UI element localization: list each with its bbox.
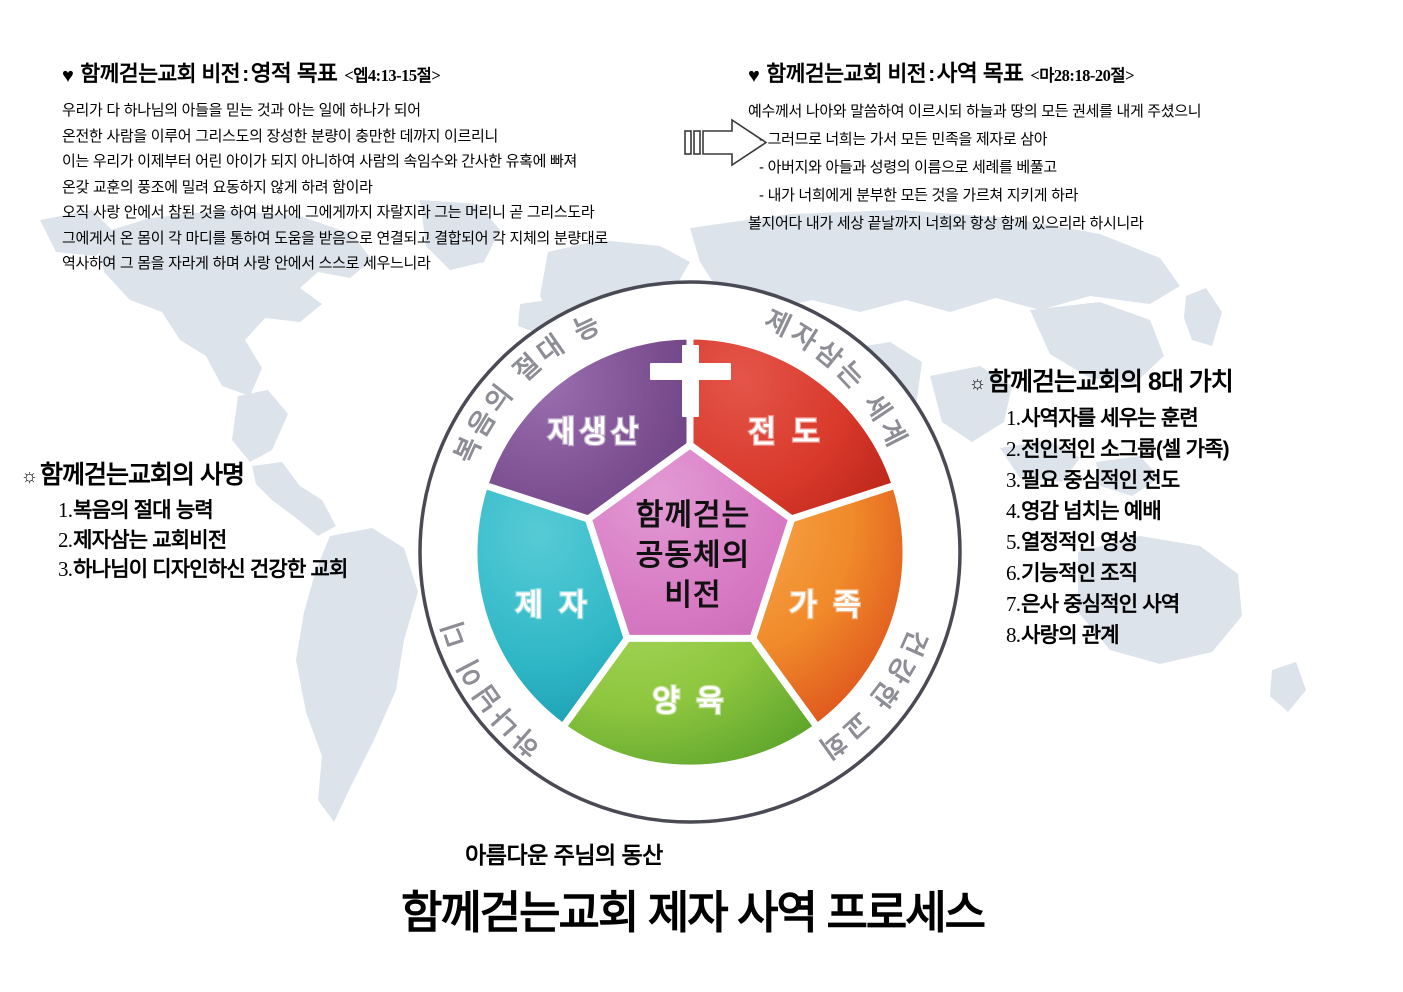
vision-ministry-line: 볼지어다 내가 세상 끝날까지 너희와 항상 함께 있으리라 하시니라 xyxy=(748,210,1358,238)
segment-label-nurture: 양 육 xyxy=(652,685,728,718)
item-label: 기능적인 조직 xyxy=(1021,562,1137,585)
slide-canvas: ♥함께걷는교회 비전:영적 목표<엡4:13-15절> 우리가 다 하나님의 아… xyxy=(0,0,1403,992)
list-item: 2.제자삼는 교회비전 xyxy=(18,526,418,556)
heart-icon: ♥ xyxy=(748,65,759,87)
vision-spiritual-line: 이는 우리가 이제부터 어린 아이가 되지 아니하여 사람의 속임수와 간사한 … xyxy=(62,149,702,175)
vision-spiritual-line: 우리가 다 하나님의 아들을 믿는 것과 아는 일에 하나가 되어 xyxy=(62,98,702,124)
center-line-3: 비전 xyxy=(664,579,721,612)
item-number: 3. xyxy=(1006,468,1020,492)
item-label: 사랑의 관계 xyxy=(1021,624,1119,647)
vision-spiritual-line: 온전한 사람을 이루어 그리스도의 장성한 분량이 충만한 데까지 이르리니 xyxy=(62,124,702,150)
item-label: 제자삼는 교회비전 xyxy=(73,529,226,552)
vision-ministry-title: 함께걷는교회 비전 xyxy=(766,62,926,86)
vision-spiritual-line: 역사하여 그 몸을 자라게 하며 사랑 안에서 스스로 세우느니라 xyxy=(62,251,702,277)
vision-ministry-body: 예수께서 나아와 말씀하여 이르시되 하늘과 땅의 모든 권세를 내게 주셨으니… xyxy=(748,98,1358,238)
heart-icon: ♥ xyxy=(62,65,73,87)
item-number: 7. xyxy=(1006,592,1020,616)
item-number: 2. xyxy=(1006,437,1020,461)
center-line-2: 공동체의 xyxy=(636,539,750,572)
item-label: 필요 중심적인 전도 xyxy=(1021,469,1179,492)
item-number: 8. xyxy=(1006,623,1020,647)
item-label: 하나님이 디자인하신 건강한 교회 xyxy=(73,558,347,581)
values-heading: ☼함께걷는교회의 8대 가치 xyxy=(966,362,1396,398)
item-label: 전인적인 소그룹(셀 가족) xyxy=(1021,438,1229,461)
vision-spiritual-reference: <엡4:13-15절> xyxy=(344,66,440,85)
sun-icon: ☼ xyxy=(18,466,40,488)
vision-ministry-reference: <마28:18-20절> xyxy=(1030,66,1134,85)
right-arrow-icon xyxy=(684,118,768,168)
list-item: 7.은사 중심적인 사역 xyxy=(966,589,1396,620)
vision-ministry-line: - 내가 너희에게 분부한 모든 것을 가르쳐 지키게 하라 xyxy=(748,182,1358,210)
vision-ministry-line: - 아버지와 아들과 성령의 이름으로 세례를 베풀고 xyxy=(748,154,1358,182)
vision-spiritual-heading: ♥함께걷는교회 비전:영적 목표<엡4:13-15절> xyxy=(62,56,702,88)
vision-ministry-heading: ♥함께걷는교회 비전:사역 목표<마28:18-20절> xyxy=(748,56,1358,88)
vision-ministry-line: 예수께서 나아와 말씀하여 이르시되 하늘과 땅의 모든 권세를 내게 주셨으니 xyxy=(748,98,1358,126)
list-item: 8.사랑의 관계 xyxy=(966,620,1396,651)
list-item: 2.전인적인 소그룹(셀 가족) xyxy=(966,434,1396,465)
values-heading-label: 함께걷는교회의 8대 가치 xyxy=(988,368,1233,396)
item-number: 4. xyxy=(1006,499,1020,523)
vision-ministry-block: ♥함께걷는교회 비전:사역 목표<마28:18-20절> 예수께서 나아와 말씀… xyxy=(748,56,1358,238)
sun-icon: ☼ xyxy=(966,373,988,395)
mission-items: 1.복음의 절대 능력 2.제자삼는 교회비전 3.하나님이 디자인하신 건강한… xyxy=(18,496,418,585)
footer-main-title: 함께걷는교회 제자 사역 프로세스 xyxy=(0,876,1403,941)
list-item: 1.사역자를 세우는 훈련 xyxy=(966,403,1396,434)
list-item: 1.복음의 절대 능력 xyxy=(18,496,418,526)
center-line-1: 함께걷는 xyxy=(636,499,750,532)
list-item: 5.열정적인 영성 xyxy=(966,527,1396,558)
item-number: 3. xyxy=(58,557,72,581)
vision-spiritual-line: 온갖 교훈의 풍조에 밀려 요동하지 않게 하려 함이라 xyxy=(62,175,702,201)
vision-spiritual-body: 우리가 다 하나님의 아들을 믿는 것과 아는 일에 하나가 되어 온전한 사람… xyxy=(62,98,702,277)
values-items: 1.사역자를 세우는 훈련 2.전인적인 소그룹(셀 가족) 3.필요 중심적인… xyxy=(966,403,1396,651)
vision-ministry-colon: : xyxy=(928,62,935,86)
vision-spiritual-line: 오직 사랑 안에서 참된 것을 하여 범사에 그에게까지 자랄지라 그는 머리니… xyxy=(62,200,702,226)
item-label: 영감 넘치는 예배 xyxy=(1021,500,1161,523)
list-item: 3.필요 중심적인 전도 xyxy=(966,465,1396,496)
vision-ministry-line: - 그러므로 너희는 가서 모든 민족을 제자로 삼아 xyxy=(748,126,1358,154)
vision-spiritual-block: ♥함께걷는교회 비전:영적 목표<엡4:13-15절> 우리가 다 하나님의 아… xyxy=(62,56,702,277)
item-number: 1. xyxy=(1006,406,1020,430)
item-label: 열정적인 영성 xyxy=(1021,531,1137,554)
values-list-block: ☼함께걷는교회의 8대 가치 1.사역자를 세우는 훈련 2.전인적인 소그룹(… xyxy=(966,362,1396,651)
segment-label-evangelism: 전 도 xyxy=(748,416,824,449)
mission-heading: ☼함께걷는교회의 사명 xyxy=(18,455,418,491)
item-label: 사역자를 세우는 훈련 xyxy=(1021,407,1198,430)
vision-spiritual-title: 함께걷는교회 비전 xyxy=(80,62,240,86)
mission-heading-label: 함께걷는교회의 사명 xyxy=(40,461,244,489)
segment-label-reproduction: 재생산 xyxy=(548,416,643,449)
list-item: 3.하나님이 디자인하신 건강한 교회 xyxy=(18,555,418,585)
item-number: 2. xyxy=(58,528,72,552)
item-label: 복음의 절대 능력 xyxy=(73,499,213,522)
segment-label-family: 가 족 xyxy=(789,589,865,622)
vision-spiritual-line: 그에게서 온 몸이 각 마디를 통하여 도움을 받음으로 연결되고 결합되어 각… xyxy=(62,226,702,252)
vision-wheel-diagram: 제자삼는 세계비젼 건강한 교회 하나님이 디자인하신 복음의 절대 능력 xyxy=(415,277,965,827)
footer-title-block: 아름다운 주님의 동산 함께걷는교회 제자 사역 프로세스 xyxy=(0,836,1403,941)
mission-list-block: ☼함께걷는교회의 사명 1.복음의 절대 능력 2.제자삼는 교회비전 3.하나… xyxy=(18,455,418,585)
vision-ministry-goal: 사역 목표 xyxy=(937,61,1024,86)
vision-spiritual-colon: : xyxy=(242,62,249,86)
item-number: 6. xyxy=(1006,561,1020,585)
item-label: 은사 중심적인 사역 xyxy=(1021,593,1179,616)
item-number: 1. xyxy=(58,498,72,522)
footer-subtitle: 아름다운 주님의 동산 xyxy=(0,836,1403,870)
list-item: 6.기능적인 조직 xyxy=(966,558,1396,589)
vision-spiritual-goal: 영적 목표 xyxy=(251,61,338,86)
segment-label-discipleship: 제 자 xyxy=(515,589,591,622)
list-item: 4.영감 넘치는 예배 xyxy=(966,496,1396,527)
item-number: 5. xyxy=(1006,530,1020,554)
